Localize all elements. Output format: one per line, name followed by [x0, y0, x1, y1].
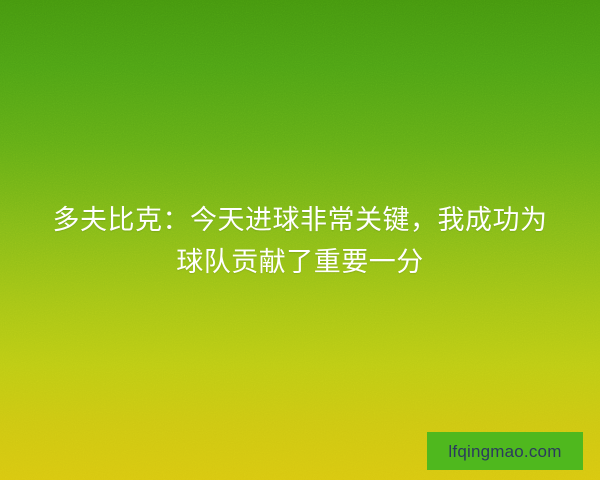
watermark-label: lfqingmao.com: [448, 443, 561, 460]
watermark-badge: lfqingmao.com: [427, 432, 583, 470]
headline-text: 多夫比克：今天进球非常关键，我成功为 球队贡献了重要一分: [0, 200, 600, 284]
headline-line-1: 多夫比克：今天进球非常关键，我成功为: [22, 200, 578, 242]
news-banner-image: 多夫比克：今天进球非常关键，我成功为 球队贡献了重要一分 lfqingmao.c…: [0, 0, 600, 480]
headline-line-2: 球队贡献了重要一分: [22, 242, 578, 284]
